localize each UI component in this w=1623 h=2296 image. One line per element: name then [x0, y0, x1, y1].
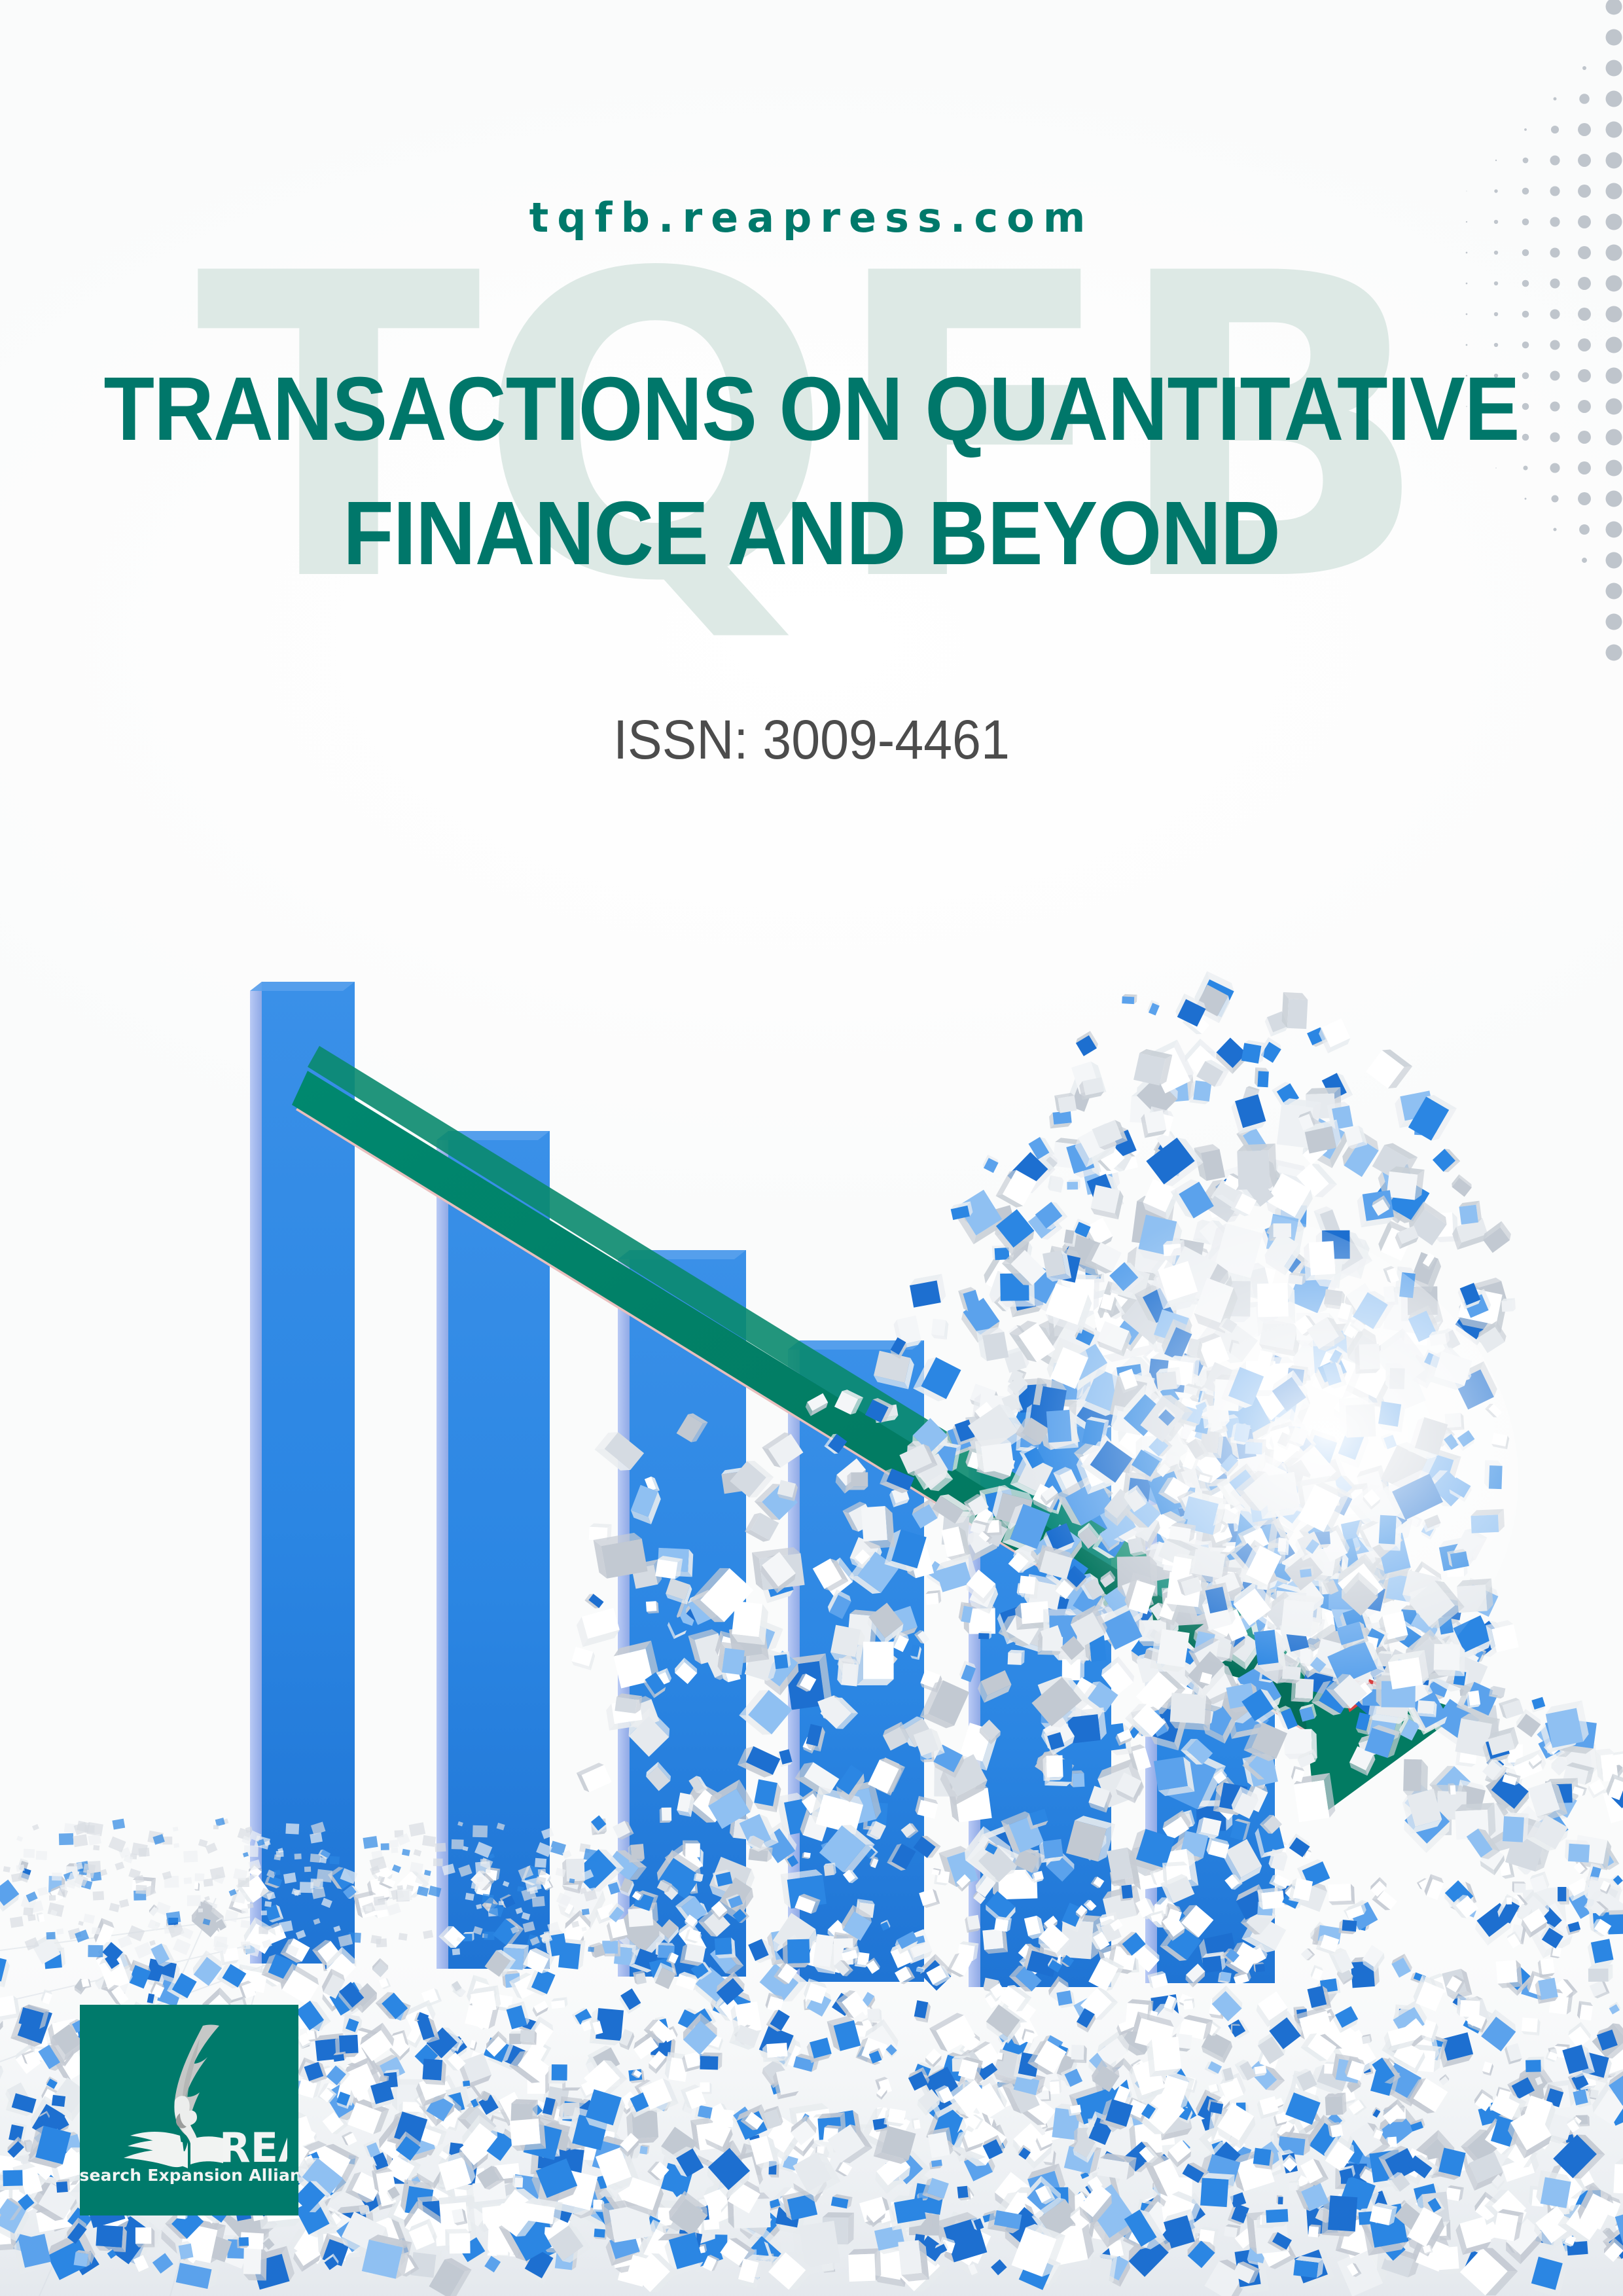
rea-quill-book-mark: REA: [91, 2014, 287, 2170]
journal-title-line-1: TRANSACTIONS ON QUANTITATIVE: [65, 347, 1558, 471]
rea-publisher-logo[interactable]: REA Research Expansion Alliance: [80, 2005, 298, 2215]
open-book-icon: [124, 2132, 223, 2168]
journal-title-line-2: FINANCE AND BEYOND: [65, 471, 1558, 596]
journal-website-url[interactable]: tqfb.reapress.com: [0, 194, 1623, 242]
rea-acronym: REA: [219, 2124, 287, 2170]
rea-tagline: Research Expansion Alliance: [80, 2166, 298, 2185]
journal-cover-page: TQFB tqfb.reapress.com TRANSACTIONS ON Q…: [0, 0, 1623, 2296]
journal-title: TRANSACTIONS ON QUANTITATIVE FINANCE AND…: [65, 347, 1558, 596]
issn-number: ISSN: 3009-4461: [48, 708, 1574, 772]
highlight-glow: [838, 1204, 1518, 1754]
